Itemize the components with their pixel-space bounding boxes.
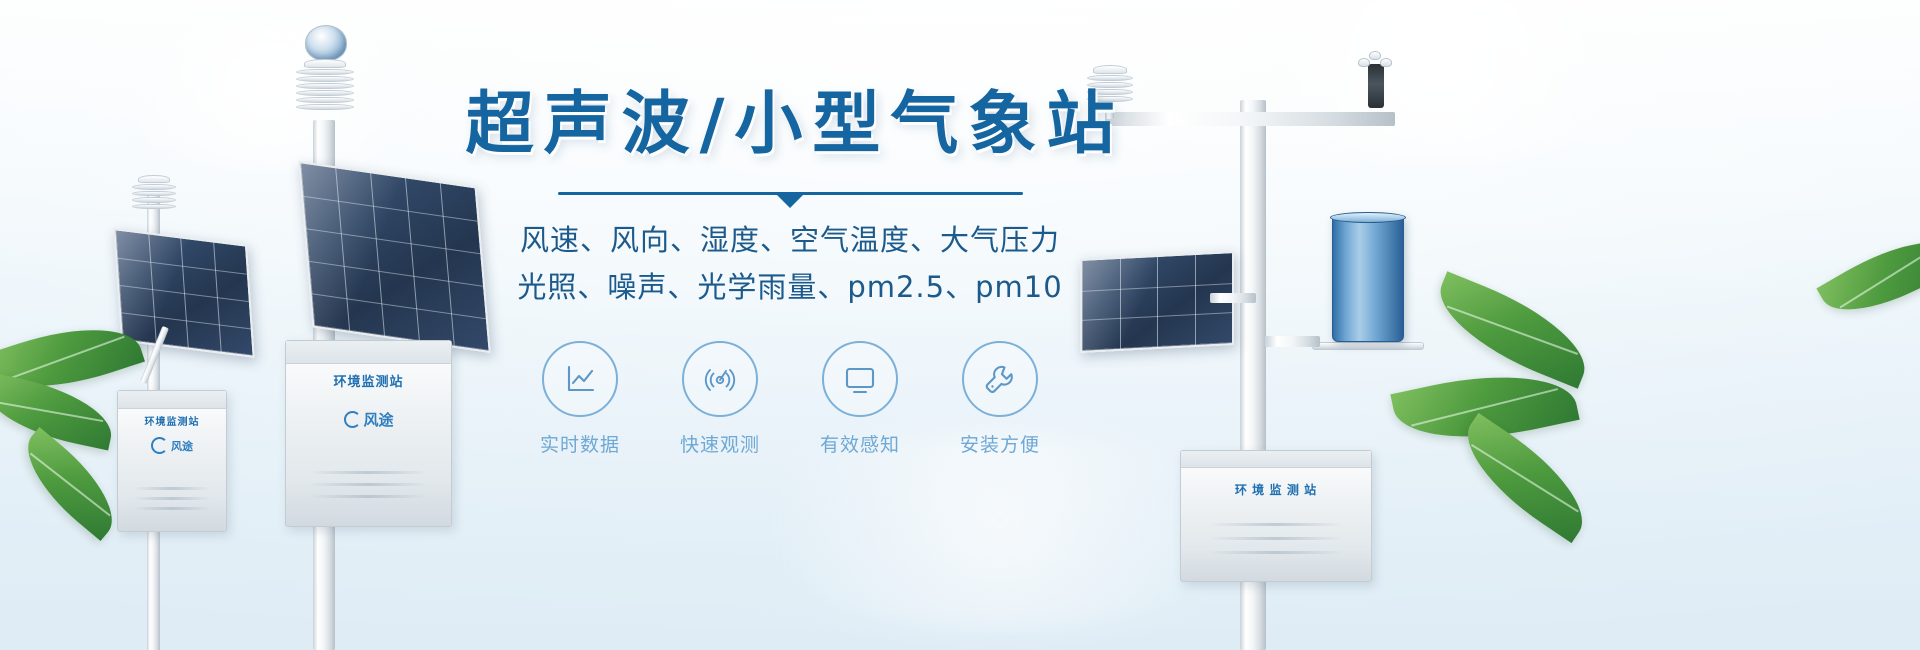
line-chart-icon [542, 341, 618, 417]
brand-mark-icon [343, 411, 360, 428]
anemometer-cup-icon [1380, 58, 1392, 67]
feature-item-effective-sensing[interactable]: 有效感知 [816, 341, 904, 457]
cabinet-label: 环境监测站 [145, 413, 200, 428]
shield-plate [132, 204, 176, 209]
shield-plate [132, 191, 176, 196]
panel-grid-line [405, 178, 420, 341]
enclosure-cabinet: 环 境 监 测 站 [1180, 450, 1372, 582]
anemometer-cup-icon [1369, 51, 1381, 60]
left-weather-station: 环境监测站 风途 [105, 175, 295, 650]
cabinet-vent [133, 497, 211, 500]
shield-plate [296, 97, 354, 103]
radiation-shield-sensor [297, 59, 353, 121]
shield-plate [296, 83, 354, 89]
sky-dome-sensor [305, 25, 347, 61]
panel-support-arm [1210, 293, 1256, 303]
brand-logo: 风途 [343, 409, 393, 430]
cabinet-label: 环境监测站 [333, 371, 403, 390]
cabinet-lid [286, 341, 451, 364]
feature-label: 快速观测 [680, 430, 760, 457]
gauge-rim [1330, 212, 1406, 223]
shield-cap [304, 59, 346, 68]
cabinet-lid [1181, 451, 1371, 468]
shield-cap [138, 175, 170, 183]
shield-plate [296, 76, 354, 82]
brand-mark-icon [151, 437, 168, 454]
shield-plate [132, 184, 176, 189]
optical-rain-gauge [1332, 215, 1404, 342]
panel-grid-line [370, 173, 385, 336]
solar-panel [113, 228, 254, 358]
sensor-plate [1087, 75, 1133, 81]
sensor-shelf [1312, 342, 1424, 350]
panel-grid-line [1195, 255, 1196, 345]
shelf-support-arm [1265, 336, 1320, 347]
banner-content: 超声波/小型气象站 风速、风向、湿度、空气温度、大气压力 光照、噪声、光学雨量、… [430, 88, 1150, 457]
cabinet-vent [1208, 537, 1345, 540]
monitor-screen-icon [822, 341, 898, 417]
page-title: 超声波/小型气象站 [456, 88, 1125, 161]
title-divider [558, 187, 1023, 207]
sensor-cap [1093, 65, 1127, 74]
brand-logo: 风途 [151, 437, 193, 454]
wind-vane-sensor [1368, 64, 1384, 108]
enclosure-cabinet: 环境监测站 风途 [285, 340, 452, 527]
panel-grid-line [335, 168, 350, 331]
enclosure-cabinet: 环境监测站 风途 [117, 390, 227, 532]
wrench-tool-icon [962, 341, 1038, 417]
feature-label: 安装方便 [960, 430, 1040, 457]
subtitle-line-2: 光照、噪声、光学雨量、pm2.5、pm10 [517, 264, 1062, 311]
shield-plate [132, 197, 176, 202]
panel-grid-line [1157, 257, 1158, 347]
leaf-decoration [1447, 413, 1603, 543]
cabinet-vent [309, 471, 428, 474]
feature-label: 有效感知 [820, 430, 900, 457]
cabinet-vent [1208, 523, 1345, 526]
brand-name: 风途 [363, 409, 393, 430]
feature-item-fast-observation[interactable]: 快速观测 [676, 341, 764, 457]
cabinet-vent [133, 507, 211, 510]
radar-signal-icon [682, 341, 758, 417]
shield-plate [296, 104, 354, 110]
brand-name: 风途 [171, 438, 193, 454]
shield-plate [296, 69, 354, 75]
shield-plate [296, 90, 354, 96]
anemometer-cup-icon [1358, 58, 1370, 67]
feature-list: 实时数据 快速观测 [536, 341, 1044, 457]
subtitle-line-1: 风速、风向、湿度、空气温度、大气压力 [520, 217, 1060, 264]
divider-triangle-icon [777, 195, 803, 208]
cabinet-label: 环 境 监 测 站 [1235, 481, 1317, 498]
leaf-decoration [1425, 271, 1600, 388]
cabinet-vent [133, 487, 211, 490]
cabinet-vent [309, 495, 428, 498]
product-banner: 环境监测站 风途 [0, 0, 1920, 650]
cabinet-vent [309, 483, 428, 486]
feature-item-realtime-data[interactable]: 实时数据 [536, 341, 624, 457]
feature-item-easy-install[interactable]: 安装方便 [956, 341, 1044, 457]
feature-label: 实时数据 [540, 430, 620, 457]
leaf-decoration [1816, 218, 1920, 333]
cabinet-lid [118, 391, 226, 409]
cabinet-vent [1208, 551, 1345, 554]
radiation-shield-sensor [133, 175, 175, 209]
